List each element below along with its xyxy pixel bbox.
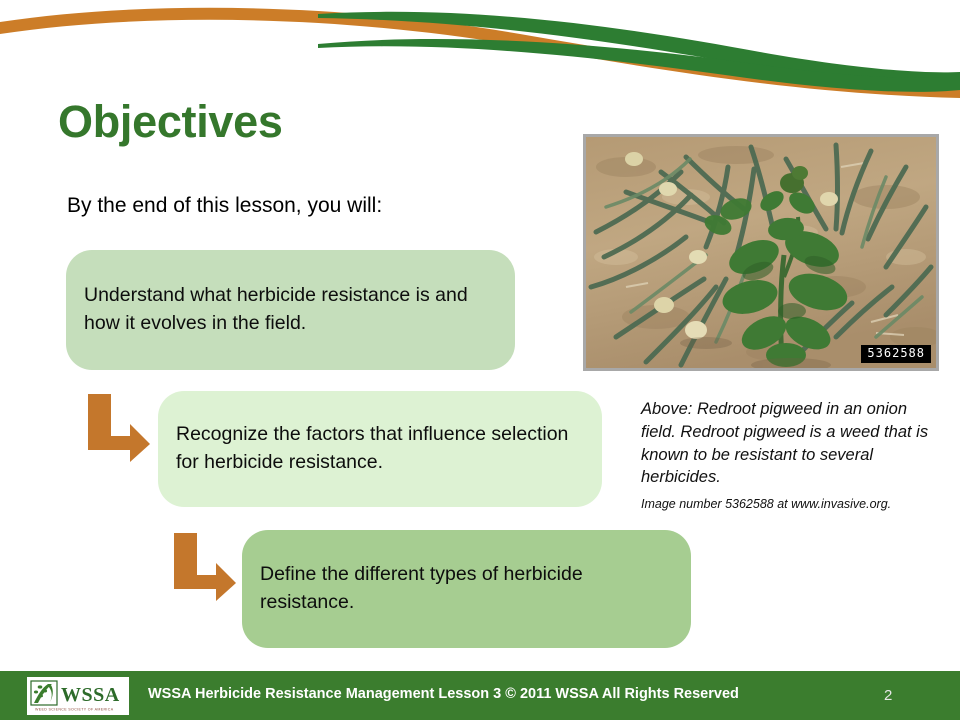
decorative-swoosh-graphic bbox=[0, 0, 960, 100]
intro-text: By the end of this lesson, you will: bbox=[67, 194, 382, 218]
wssa-logo-icon: WSSA WEED SCIENCE SOCIETY OF AMERICA bbox=[28, 678, 128, 714]
objective-box-2: Recognize the factors that influence sel… bbox=[158, 391, 602, 507]
footer-copyright-text: WSSA Herbicide Resistance Management Les… bbox=[148, 686, 739, 702]
bent-arrow-icon-1 bbox=[86, 392, 152, 464]
svg-text:WSSA: WSSA bbox=[61, 684, 120, 706]
photo-image-id-label: 5362588 bbox=[861, 345, 931, 363]
redroot-pigweed-onion-field-photo bbox=[586, 137, 936, 368]
page-number: 2 bbox=[884, 687, 892, 704]
objective-text-1: Understand what herbicide resistance is … bbox=[66, 282, 515, 337]
slide-canvas: Objectives By the end of this lesson, yo… bbox=[0, 0, 960, 720]
bent-arrow-icon-2 bbox=[172, 531, 238, 603]
objective-text-3: Define the different types of herbicide … bbox=[242, 561, 691, 616]
objective-text-2: Recognize the factors that influence sel… bbox=[158, 421, 602, 476]
wssa-logo-subtitle: WEED SCIENCE SOCIETY OF AMERICA bbox=[35, 708, 114, 712]
photo-frame: 5362588 bbox=[583, 134, 939, 371]
photo-caption: Above: Redroot pigweed in an onion field… bbox=[641, 398, 937, 489]
page-title: Objectives bbox=[58, 98, 283, 145]
wssa-logo: WSSA WEED SCIENCE SOCIETY OF AMERICA bbox=[27, 677, 129, 715]
photo-credit: Image number 5362588 at www.invasive.org… bbox=[641, 497, 941, 511]
objective-box-3: Define the different types of herbicide … bbox=[242, 530, 691, 648]
objective-box-1: Understand what herbicide resistance is … bbox=[66, 250, 515, 370]
